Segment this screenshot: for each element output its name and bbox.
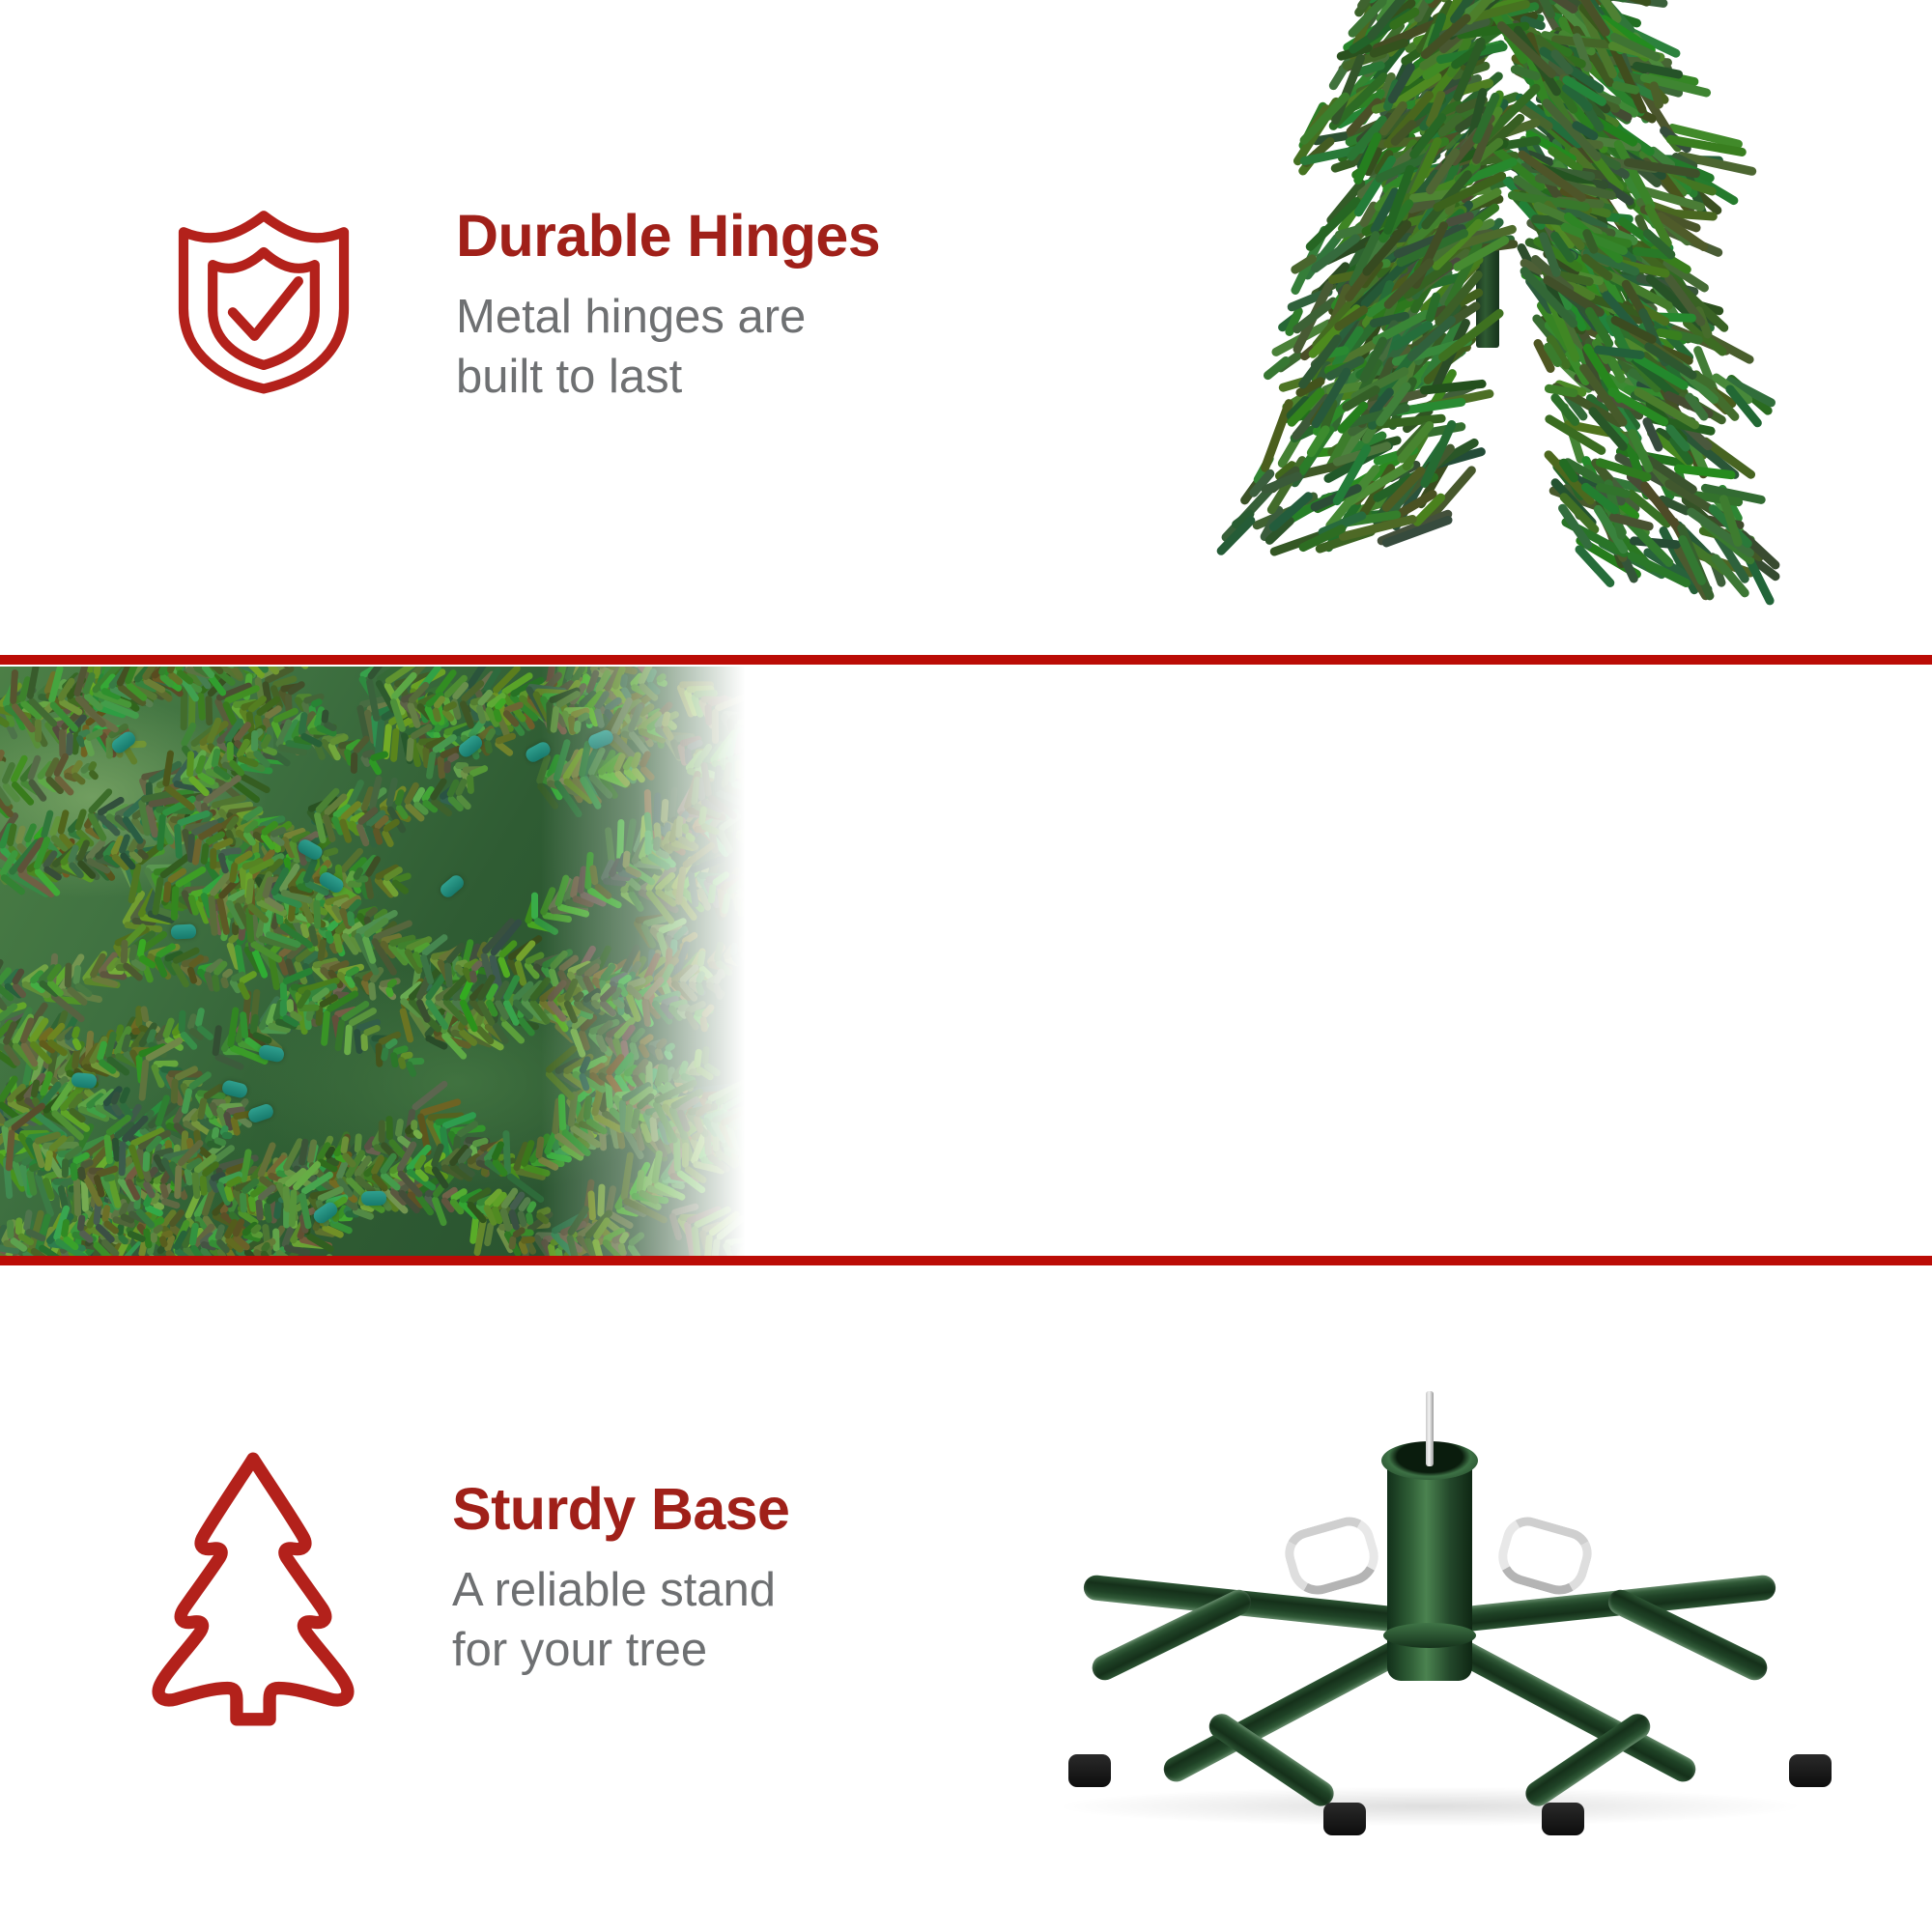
feature-description-line-1: Metal hinges are bbox=[456, 288, 880, 348]
stand-thumbscrew bbox=[1492, 1511, 1598, 1601]
metal-tree-stand-photo bbox=[1005, 1333, 1855, 1874]
shield-check-icon bbox=[172, 203, 355, 396]
feature-description-line-2: built to last bbox=[456, 348, 880, 408]
pvc-branch-closeup-photo bbox=[0, 667, 763, 1261]
feature-band-pvc-branches: PVC Branches Flame-retardant and easy to… bbox=[0, 667, 1932, 1261]
christmas-tree-outline-icon bbox=[143, 1444, 363, 1734]
feature-text-durable-hinges: Durable Hinges Metal hinges are built to… bbox=[456, 205, 880, 408]
feature-description-line-2: for your tree bbox=[452, 1621, 789, 1681]
divider-bottom bbox=[0, 1256, 1932, 1265]
artificial-christmas-tree-photo bbox=[1043, 0, 1932, 657]
feature-title: Durable Hinges bbox=[456, 205, 880, 267]
tree-foliage-tier bbox=[1217, 135, 1758, 551]
feature-title: Sturdy Base bbox=[452, 1478, 789, 1540]
feature-description-line-1: A reliable stand bbox=[452, 1561, 789, 1621]
stand-pole-collar bbox=[1383, 1623, 1476, 1648]
feature-description: A reliable stand for your tree bbox=[452, 1561, 789, 1680]
feature-text-sturdy-base: Sturdy Base A reliable stand for your tr… bbox=[452, 1478, 789, 1681]
feature-description: Metal hinges are built to last bbox=[456, 288, 880, 407]
stand-drop-shadow bbox=[1063, 1787, 1797, 1826]
product-feature-infographic: Durable Hinges Metal hinges are built to… bbox=[0, 0, 1932, 1932]
feature-band-durable-hinges: Durable Hinges Metal hinges are built to… bbox=[0, 0, 1932, 662]
divider-top bbox=[0, 655, 1932, 665]
stand-center-pin bbox=[1426, 1391, 1434, 1466]
photo-edge-fade bbox=[541, 667, 763, 1261]
stand-thumbscrew bbox=[1279, 1511, 1385, 1601]
